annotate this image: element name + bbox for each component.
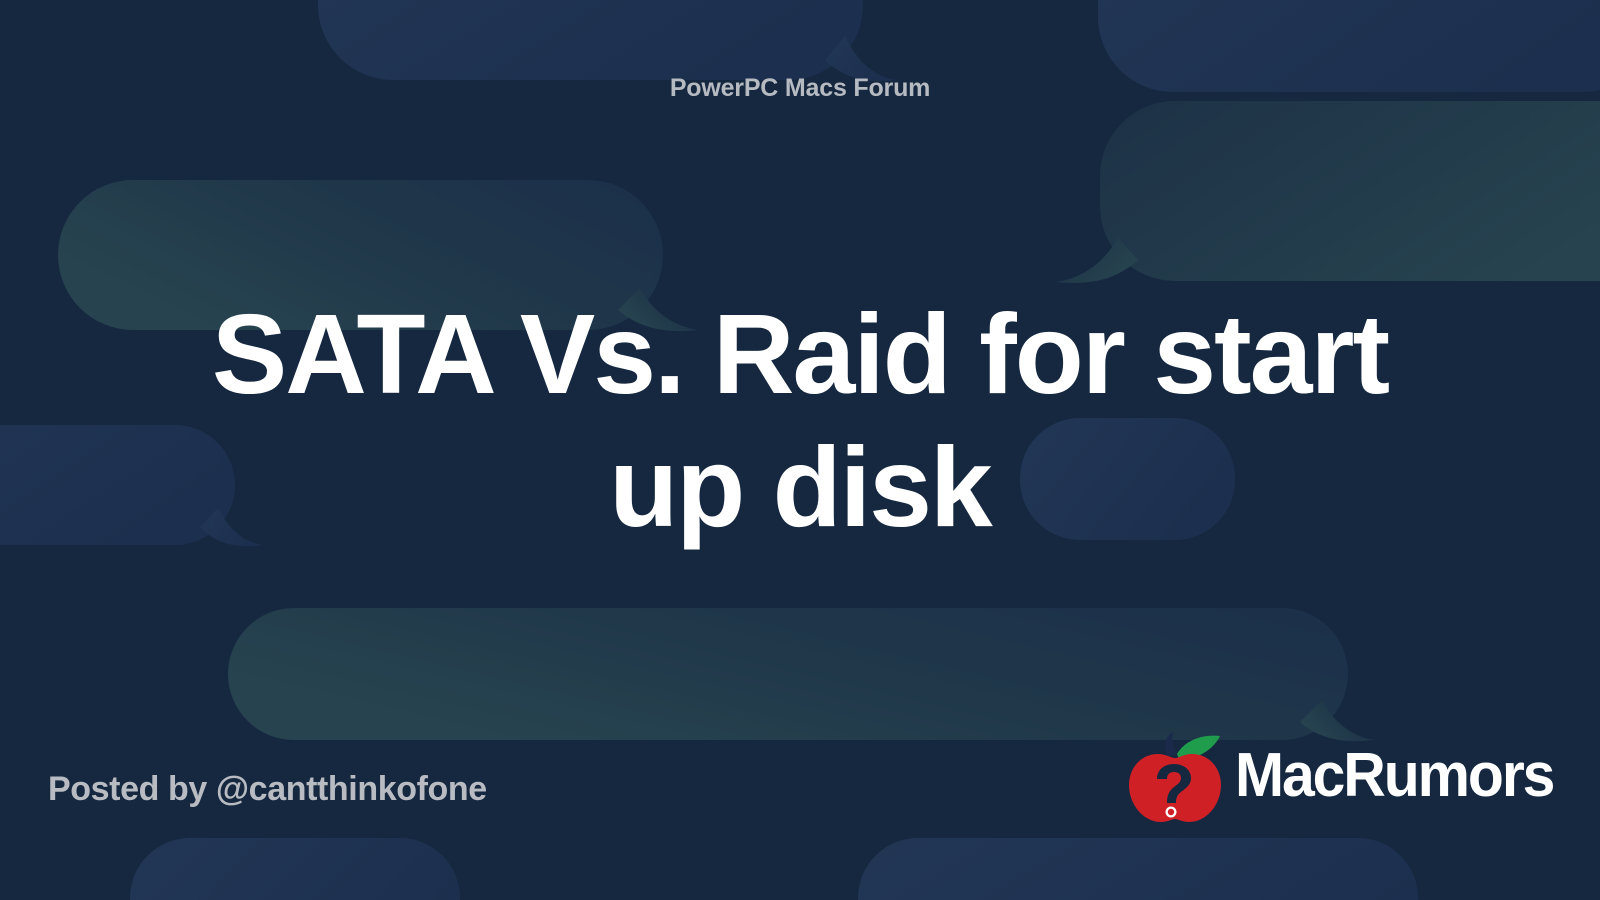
- macrumors-wordmark: MacRumors: [1235, 745, 1553, 807]
- post-author: Posted by @cantthinkofone: [48, 770, 487, 809]
- question-dot-core: [1168, 809, 1174, 815]
- macrumors-apple-question-mark-icon: [1121, 728, 1229, 824]
- leaf-accent: [1165, 732, 1179, 756]
- card-content: PowerPC Macs Forum SATA Vs. Raid for sta…: [0, 0, 1600, 900]
- macrumors-logo: MacRumors: [1121, 728, 1570, 824]
- forum-name: PowerPC Macs Forum: [0, 74, 1600, 103]
- social-share-card: PowerPC Macs Forum SATA Vs. Raid for sta…: [0, 0, 1600, 900]
- page-title: SATA Vs. Raid for start up disk: [140, 288, 1460, 555]
